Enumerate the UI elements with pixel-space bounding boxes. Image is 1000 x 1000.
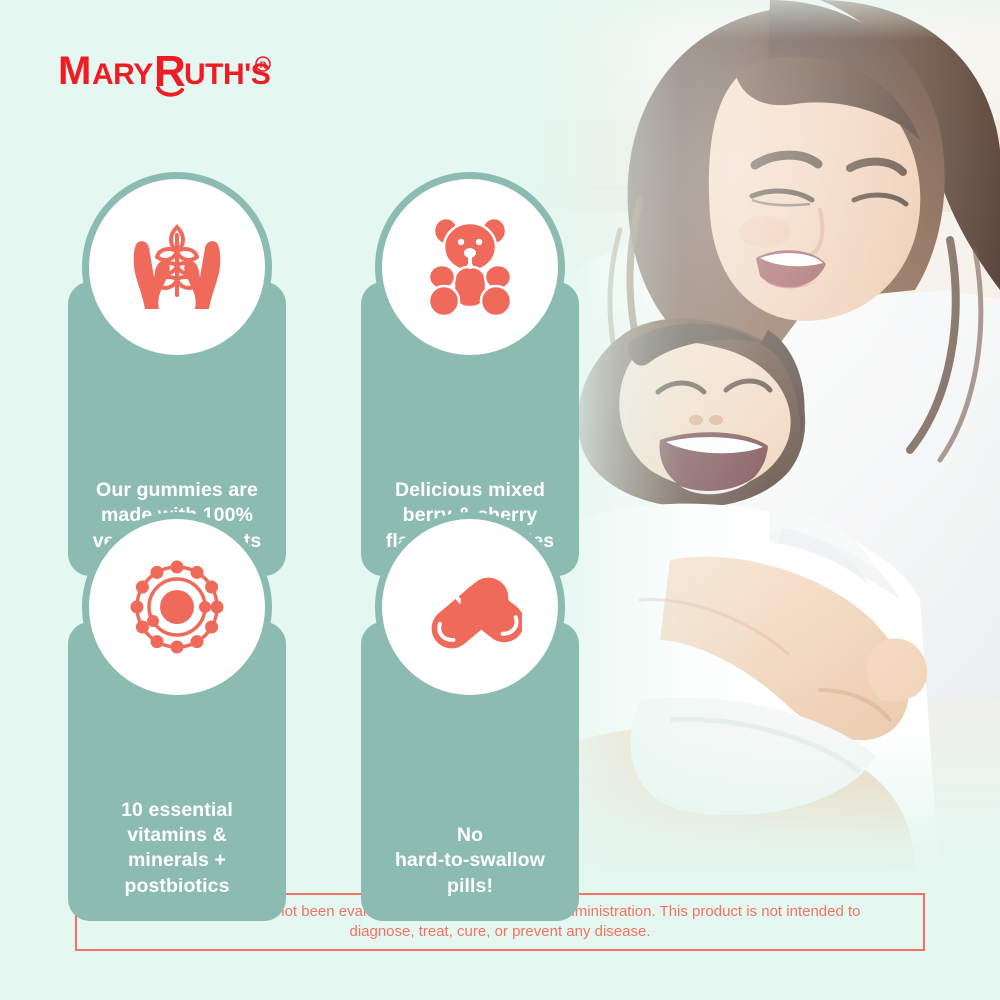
- card-text: No hard-to-swallow pills!: [395, 823, 545, 899]
- svg-text:ARY: ARY: [92, 58, 153, 91]
- capsule-pills-icon: [418, 557, 522, 657]
- gummy-bear-icon: [422, 215, 518, 319]
- svg-text:UTH'S: UTH'S: [184, 58, 270, 91]
- hands-holding-wheat-icon: [125, 217, 229, 317]
- card-text: 10 essential vitamins & minerals + postb…: [121, 798, 233, 899]
- mother-and-child-photo: [520, 0, 1000, 880]
- card-icon-circle: [382, 179, 558, 355]
- maryruths-logo[interactable]: M ARY R UTH'S R: [58, 44, 278, 96]
- infographic-canvas: M ARY R UTH'S R Our gummies are made wit…: [0, 0, 1000, 1000]
- molecule-cell-icon: [125, 555, 229, 659]
- svg-text:R: R: [260, 60, 267, 70]
- svg-text:M: M: [58, 49, 90, 93]
- card-icon-circle: [89, 179, 265, 355]
- card-icon-circle: [89, 519, 265, 695]
- card-icon-circle: [382, 519, 558, 695]
